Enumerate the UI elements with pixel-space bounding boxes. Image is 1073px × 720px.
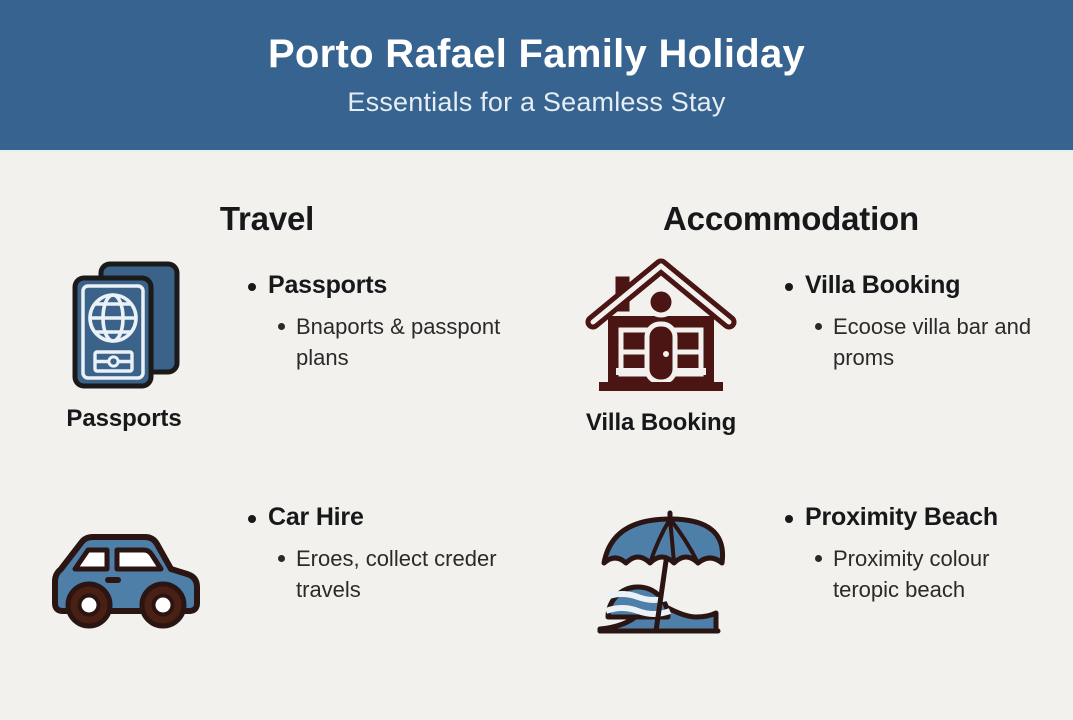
icon-cell-house: Villa Booking xyxy=(537,252,785,442)
icon-caption-passports: Passports xyxy=(66,405,181,433)
bullet-sub-label: Eroes, collect creder travels xyxy=(296,543,528,605)
bullet-sub-label: Proximity colour teropic beach xyxy=(833,543,1049,605)
icon-cell-car xyxy=(0,492,248,662)
bullet-dot-icon xyxy=(248,283,256,291)
bullet-dot-icon xyxy=(785,283,793,291)
icon-cell-passports: Passports xyxy=(0,252,248,442)
bullet-sub-dot-icon xyxy=(278,323,285,330)
page-title: Porto Rafael Family Holiday xyxy=(268,32,805,76)
column-heading-travel: Travel xyxy=(0,200,535,238)
column-travel: Travel xyxy=(0,152,536,720)
bullet-main-passports: Passports xyxy=(248,270,536,300)
bullet-main-label: Passports xyxy=(268,270,387,300)
bullet-dot-icon xyxy=(785,515,793,523)
bullet-main-label: Proximity Beach xyxy=(805,502,998,532)
beach-umbrella-icon xyxy=(586,505,736,650)
house-icon xyxy=(585,256,737,401)
list-item-car-hire: Car Hire Eroes, collect creder travels xyxy=(0,492,536,662)
icon-cell-beach xyxy=(537,492,785,662)
text-cell-proximity-beach: Proximity Beach Proximity colour teropic… xyxy=(785,492,1073,662)
page-subtitle: Essentials for a Seamless Stay xyxy=(347,87,725,118)
page-header: Porto Rafael Family Holiday Essentials f… xyxy=(0,0,1073,152)
infographic-page: Porto Rafael Family Holiday Essentials f… xyxy=(0,0,1073,720)
bullet-main-villa-booking: Villa Booking xyxy=(785,270,1073,300)
column-heading-accommodation: Accommodation xyxy=(523,200,1059,238)
bullet-dot-icon xyxy=(248,515,256,523)
passports-icon xyxy=(59,256,189,397)
content-area: Travel xyxy=(0,152,1073,720)
bullet-sub-dot-icon xyxy=(278,555,285,562)
bullet-sub-car-hire: Eroes, collect creder travels xyxy=(278,543,536,605)
list-item-villa-booking: Villa Booking Villa Booking Ecoose villa… xyxy=(537,252,1073,442)
bullet-sub-dot-icon xyxy=(815,323,822,330)
text-cell-car-hire: Car Hire Eroes, collect creder travels xyxy=(248,492,536,662)
bullet-sub-passports: Bnaports & passpont plans xyxy=(278,311,536,373)
bullet-sub-label: Ecoose villa bar and proms xyxy=(833,311,1049,373)
text-cell-villa-booking: Villa Booking Ecoose villa bar and proms xyxy=(785,252,1073,442)
bullet-main-car-hire: Car Hire xyxy=(248,502,536,532)
bullet-sub-villa-booking: Ecoose villa bar and proms xyxy=(815,311,1073,373)
list-item-passports: Passports Passports Bnaports & passpont … xyxy=(0,252,536,442)
text-cell-passports: Passports Bnaports & passpont plans xyxy=(248,252,536,442)
bullet-sub-label: Bnaports & passpont plans xyxy=(296,311,528,373)
bullet-sub-dot-icon xyxy=(815,555,822,562)
car-icon xyxy=(41,519,207,636)
bullet-main-label: Villa Booking xyxy=(805,270,960,300)
bullet-main-proximity-beach: Proximity Beach xyxy=(785,502,1073,532)
list-item-proximity-beach: Proximity Beach Proximity colour teropic… xyxy=(537,492,1073,662)
bullet-sub-proximity-beach: Proximity colour teropic beach xyxy=(815,543,1073,605)
bullet-main-label: Car Hire xyxy=(268,502,364,532)
icon-caption-villa-booking: Villa Booking xyxy=(586,409,736,437)
column-accommodation: Accommodation xyxy=(537,152,1073,720)
